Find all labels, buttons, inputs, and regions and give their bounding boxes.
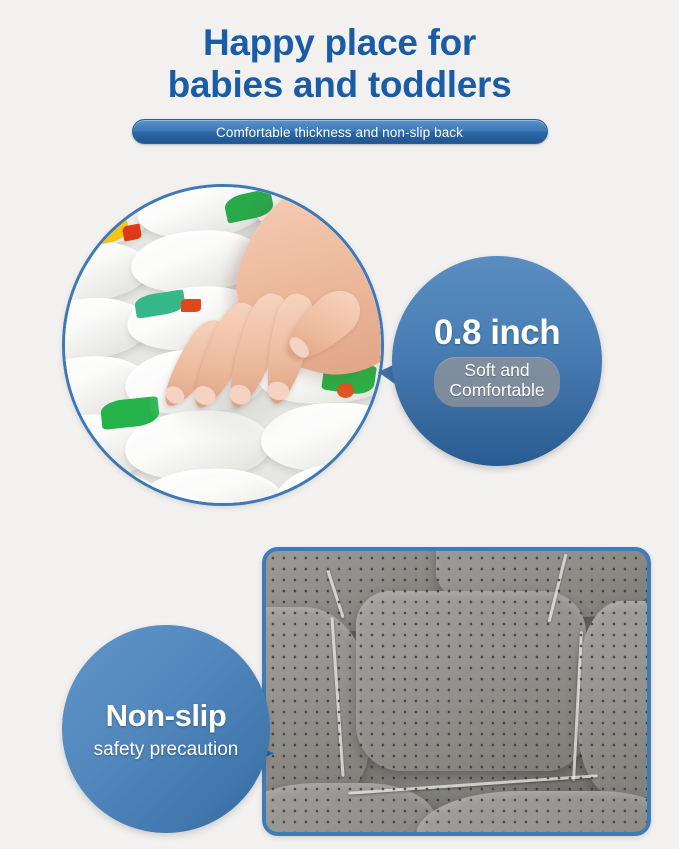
nonslip-callout-badge: Non-slip safety precaution — [62, 625, 322, 837]
nonslip-title: Non-slip — [106, 700, 227, 731]
page-title: Happy place for babies and toddlers — [0, 22, 679, 106]
header: Happy place for babies and toddlers Comf… — [0, 22, 679, 144]
subtitle-container: Comfortable thickness and non-slip back — [0, 119, 679, 144]
photo-inner-top — [65, 187, 381, 503]
badge-text-group: Non-slip safety precaution — [62, 625, 270, 833]
thickness-value: 0.8 inch — [434, 315, 560, 350]
badge-text-group: 0.8 inch Soft and Comfortable — [392, 256, 602, 466]
thickness-sub-label: Soft and Comfortable — [434, 357, 559, 406]
nonslip-sub-label: safety precaution — [94, 740, 239, 759]
subtitle-banner: Comfortable thickness and non-slip back — [132, 119, 548, 144]
appliq-orange-dot — [337, 383, 354, 398]
photo-hand-pressing-mattress — [62, 184, 384, 506]
appliq-red — [181, 299, 201, 312]
thickness-callout-badge: 0.8 inch Soft and Comfortable — [378, 256, 602, 480]
infographic-page: Happy place for babies and toddlers Comf… — [0, 0, 679, 849]
